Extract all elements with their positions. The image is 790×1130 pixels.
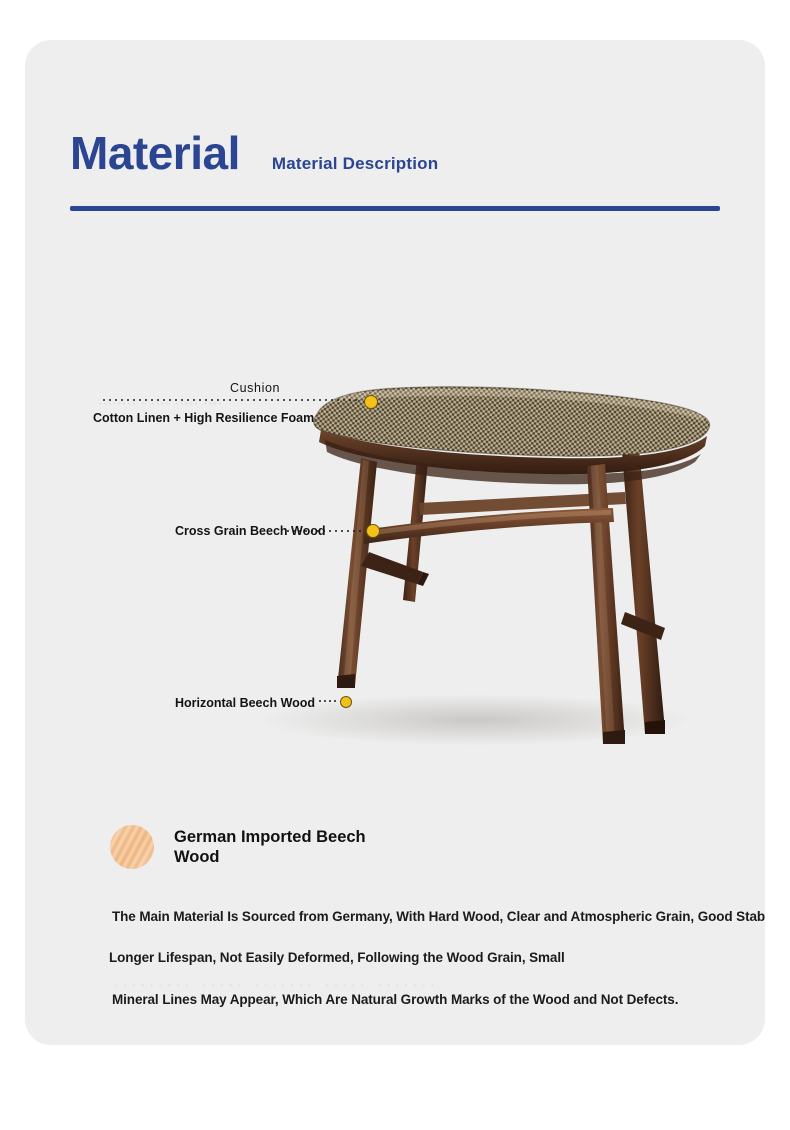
material-card: Material Material Description xyxy=(25,40,765,1045)
annotation-horizontal-beech: Horizontal Beech Wood xyxy=(175,696,315,712)
material-highlight: German Imported Beech Wood xyxy=(110,825,404,869)
page-title: Material xyxy=(70,130,240,176)
marker-cushion xyxy=(365,396,378,409)
beech-wood-swatch-icon xyxy=(110,825,154,869)
material-description-line-1: The Main Material Is Sourced from German… xyxy=(112,909,765,924)
foot-back-right xyxy=(645,720,665,734)
ghost-residue-description: ......... ..... ....... ..... ....... xyxy=(115,978,495,989)
foot-front-right xyxy=(603,730,625,744)
material-heading: German Imported Beech Wood xyxy=(174,827,404,868)
right-edge-clip xyxy=(765,0,790,1130)
material-description-line-2: Longer Lifespan, Not Easily Deformed, Fo… xyxy=(109,950,565,965)
foot-front-left xyxy=(337,674,355,688)
header-row: Material Material Description xyxy=(70,130,720,176)
page-root: Material Material Description xyxy=(0,0,790,1130)
page-subtitle: Material Description xyxy=(272,154,439,174)
annotation-cross-grain: Cross Grain Beech Wood xyxy=(175,524,326,540)
stool-drawing xyxy=(25,290,765,790)
ghost-residue-cushion: ........ . .... ..... .... xyxy=(99,396,223,407)
annotation-cushion-subtitle: Cotton Linen + High Resilience Foam xyxy=(93,411,314,427)
leg-back-right xyxy=(621,440,665,734)
product-illustration xyxy=(25,290,765,790)
header-divider xyxy=(70,206,720,211)
marker-cross-grain xyxy=(367,525,380,538)
annotation-cushion-title: Cushion xyxy=(230,381,280,397)
material-description-line-3: Mineral Lines May Appear, Which Are Natu… xyxy=(112,992,678,1007)
marker-horizontal xyxy=(341,697,352,708)
header: Material Material Description xyxy=(70,130,720,211)
